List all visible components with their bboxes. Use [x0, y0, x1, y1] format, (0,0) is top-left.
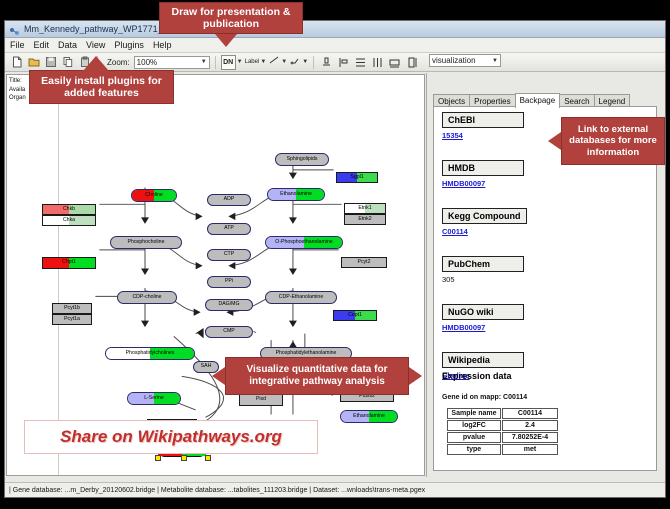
backpage-entry: PubChem305	[442, 254, 524, 284]
node-label: CDP-choline	[132, 295, 161, 300]
table-row: typemet	[447, 444, 558, 455]
expr-value: 2.4	[502, 420, 558, 431]
callout-draw-arrow	[215, 34, 237, 47]
window-titlebar: Mm_Kennedy_pathway_WP1771_45176.gpml	[5, 21, 665, 38]
expr-value: C00114	[502, 408, 558, 419]
expr-key: Sample name	[447, 408, 501, 419]
node-label: Phosphatidylethanolamine	[276, 351, 337, 356]
chevron-down-icon: ▼	[492, 58, 498, 64]
expression-table: Sample nameC00114log2FC2.4pvalue7.80252E…	[446, 407, 559, 456]
backpage-header: PubChem	[442, 256, 524, 272]
status-text: | Gene database: ...m_Derby_20120602.bri…	[9, 487, 425, 494]
expr-value: 7.80252E-4	[502, 432, 558, 443]
label-button: Label	[245, 59, 260, 65]
receptor-combo[interactable]: ▼	[289, 53, 308, 71]
node-label: DAG/MG	[218, 302, 239, 307]
node-label: Choline	[145, 193, 163, 198]
expression-data-title: Expression data	[442, 371, 512, 381]
align-left-icon[interactable]	[336, 55, 351, 70]
node-label: Phosphocholine	[128, 240, 165, 245]
gene-node-pcyt2[interactable]: Pcyt2	[341, 257, 387, 268]
metabolite-node-ctp[interactable]: CTP	[207, 249, 251, 261]
gene-id-on-mapp: Gene id on mapp: C00114	[442, 394, 527, 401]
callout-draw: Draw for presentation & publication	[159, 2, 303, 34]
metabolite-node-ethanolamine[interactable]: Ethanolamine	[340, 410, 398, 423]
datanode-icon: DN	[221, 55, 236, 70]
save-disk-icon[interactable]	[43, 55, 58, 70]
gene-node-pisd[interactable]: Pisd	[239, 394, 283, 406]
pathway-canvas[interactable]: Title: Availa Organ	[6, 74, 425, 476]
node-label: Cept1	[348, 313, 362, 318]
tab-backpage[interactable]: Backpage	[515, 93, 561, 108]
expr-key: pvalue	[447, 432, 501, 443]
metabolite-node-ethanolamine[interactable]: Ethanolamine	[267, 188, 325, 201]
selection-handle[interactable]	[155, 455, 161, 461]
callout-visualize-arrow	[212, 367, 225, 385]
common-width-icon[interactable]	[387, 55, 402, 70]
menu-edit[interactable]: Edit	[34, 40, 50, 50]
menu-view[interactable]: View	[86, 40, 105, 50]
stack-vertical-icon[interactable]	[353, 55, 368, 70]
screenshot-root: Mm_Kennedy_pathway_WP1771_45176.gpml Fil…	[0, 0, 670, 509]
selection-handle[interactable]	[181, 455, 187, 461]
selection-handle[interactable]	[205, 455, 211, 461]
table-row: pvalue7.80252E-4	[447, 432, 558, 443]
expr-key: type	[447, 444, 501, 455]
node-label: Pcyt2	[358, 260, 371, 265]
expr-value: met	[502, 444, 558, 455]
callout-visualize-arrow-right	[409, 367, 422, 385]
node-label: Sphingolipids	[287, 157, 318, 162]
metabolite-node-phosphocholine[interactable]: Phosphocholine	[110, 236, 182, 249]
metabolite-node-cmp[interactable]: CMP	[205, 326, 253, 338]
chevron-down-icon: ▼	[302, 59, 308, 65]
node-label: Pcyt1b	[64, 306, 80, 311]
visualization-value: visualization	[432, 56, 476, 65]
metabolite-node-atp[interactable]: ATP	[207, 223, 251, 235]
chevron-down-icon: ▼	[201, 59, 207, 65]
receptor-line-icon	[289, 53, 301, 71]
backpage-entry: HMDBHMDB00097	[442, 158, 524, 188]
align-top-icon[interactable]	[319, 55, 334, 70]
toolbar-separator	[215, 56, 216, 69]
chevron-down-icon: ▼	[260, 59, 266, 65]
menu-plugins[interactable]: Plugins	[114, 40, 144, 50]
metabolite-node-dag-mg[interactable]: DAG/MG	[205, 299, 253, 311]
open-folder-icon[interactable]	[26, 55, 41, 70]
node-label: O-Phosphoethanolamine	[275, 240, 332, 245]
zoom-combo[interactable]: 100% ▼	[134, 56, 210, 69]
callout-link: Link to external databases for more info…	[561, 117, 665, 165]
backpage-entry: Kegg CompoundC00114	[442, 206, 527, 236]
callout-plugins: Easily install plugins for added feature…	[29, 70, 174, 104]
new-file-icon[interactable]	[9, 55, 24, 70]
node-label: CMP	[223, 329, 235, 334]
callout-plugins-arrow	[83, 56, 109, 71]
line-icon	[268, 53, 280, 71]
table-row: log2FC2.4	[447, 420, 558, 431]
common-height-icon[interactable]	[404, 55, 419, 70]
toolbar-separator	[313, 56, 314, 69]
node-label: Pcyt1a	[64, 317, 80, 322]
node-label: Chpt1	[62, 260, 76, 265]
chevron-down-icon: ▼	[237, 59, 243, 65]
node-label: Chka	[63, 218, 75, 223]
gene-node-pcyt1b[interactable]: Pcyt1b	[52, 303, 92, 314]
callout-visualize: Visualize quantitative data for integrat…	[225, 357, 409, 395]
metabolite-node-l-serine[interactable]: L-Serine	[127, 392, 181, 405]
line-combo[interactable]: ▼	[268, 53, 287, 71]
visualization-combo[interactable]: visualization ▼	[429, 54, 501, 67]
gene-node-pcyt1a[interactable]: Pcyt1a	[52, 314, 92, 325]
backpage-header: ChEBI	[442, 112, 524, 128]
label-combo[interactable]: Label ▼	[245, 59, 267, 65]
node-label: Etnk2	[358, 217, 371, 222]
stack-horizontal-icon[interactable]	[370, 55, 385, 70]
node-label: Phosphatidylcholines	[126, 351, 175, 356]
node-label: Pisd	[256, 397, 266, 402]
gene-node-chka[interactable]: Chka	[42, 215, 96, 226]
gene-node-etnk2[interactable]: Etnk2	[344, 214, 386, 225]
metabolite-node-sphingolipids[interactable]: Sphingolipids	[275, 153, 329, 166]
node-label: ADP	[224, 197, 235, 202]
gene-node-chkb[interactable]: Chkb	[42, 204, 96, 215]
menubar: File Edit Data View Plugins Help	[5, 38, 665, 53]
node-label: ATP	[224, 226, 234, 231]
node-label: L-Serine	[144, 396, 164, 401]
backpage-entry: ChEBI15354	[442, 110, 524, 140]
table-row: Sample nameC00114	[447, 408, 558, 419]
backpage-header: HMDB	[442, 160, 524, 176]
metabolite-node-cdp-ethanolamine[interactable]: CDP-Ethanolamine	[265, 291, 337, 304]
node-label: CDP-Ethanolamine	[279, 295, 323, 300]
metabolite-node-adp[interactable]: ADP	[207, 194, 251, 206]
datanode-combo[interactable]: DN ▼	[221, 55, 243, 70]
zoom-value: 100%	[137, 58, 157, 67]
backpage-link[interactable]: HMDB00097	[442, 179, 524, 188]
backpage-link[interactable]: HMDB00097	[442, 323, 524, 332]
backpage-header: NuGO wiki	[442, 304, 524, 320]
backpage-header: Kegg Compound	[442, 208, 527, 224]
backpage-link[interactable]: 15354	[442, 131, 524, 140]
copy-icon[interactable]	[60, 55, 75, 70]
metabolite-node-o-phosphoethanolamine[interactable]: O-Phosphoethanolamine	[265, 236, 343, 249]
menu-file[interactable]: File	[10, 40, 25, 50]
node-label: PPi	[225, 279, 233, 284]
backpage-link[interactable]: C00114	[442, 227, 527, 236]
node-label: SAH	[201, 364, 212, 369]
metabolite-node-ppi[interactable]: PPi	[207, 276, 251, 288]
expr-key: log2FC	[447, 420, 501, 431]
gene-node-sgpl1[interactable]: Sgpl1	[336, 172, 378, 183]
backpage-header: Wikipedia	[442, 352, 524, 368]
node-label: Ethanolamine	[280, 192, 312, 197]
pathway-info-column: Title: Availa Organ	[7, 75, 59, 475]
node-label: Sgpl1	[350, 175, 363, 180]
metabolite-node-phosphatidylcholines[interactable]: Phosphatidylcholines	[105, 347, 195, 360]
menu-data[interactable]: Data	[58, 40, 77, 50]
node-label: Chkb	[63, 207, 75, 212]
menu-help[interactable]: Help	[153, 40, 172, 50]
metabolite-node-choline[interactable]: Choline	[131, 189, 177, 202]
node-label: CTP	[224, 252, 234, 257]
node-label: Ethanolamine	[353, 414, 385, 419]
status-bar: | Gene database: ...m_Derby_20120602.bri…	[5, 482, 665, 497]
callout-share: Share on Wikipathways.org	[24, 420, 318, 454]
metabolite-node-cdp-choline[interactable]: CDP-choline	[117, 291, 177, 304]
callout-link-arrow	[548, 132, 561, 150]
gene-node-chpt1[interactable]: Chpt1	[42, 257, 96, 269]
gene-node-cept1[interactable]: Cept1	[333, 310, 377, 321]
share-text: Share on Wikipathways.org	[60, 427, 282, 447]
backpage-entry: NuGO wikiHMDB00097	[442, 302, 524, 332]
node-label: Etnk1	[358, 206, 371, 211]
pathvisio-icon	[9, 24, 20, 35]
zoom-label: Zoom:	[107, 58, 130, 67]
chevron-down-icon: ▼	[281, 59, 287, 65]
gene-node-etnk1[interactable]: Etnk1	[344, 203, 386, 214]
backpage-value: 305	[442, 275, 524, 284]
